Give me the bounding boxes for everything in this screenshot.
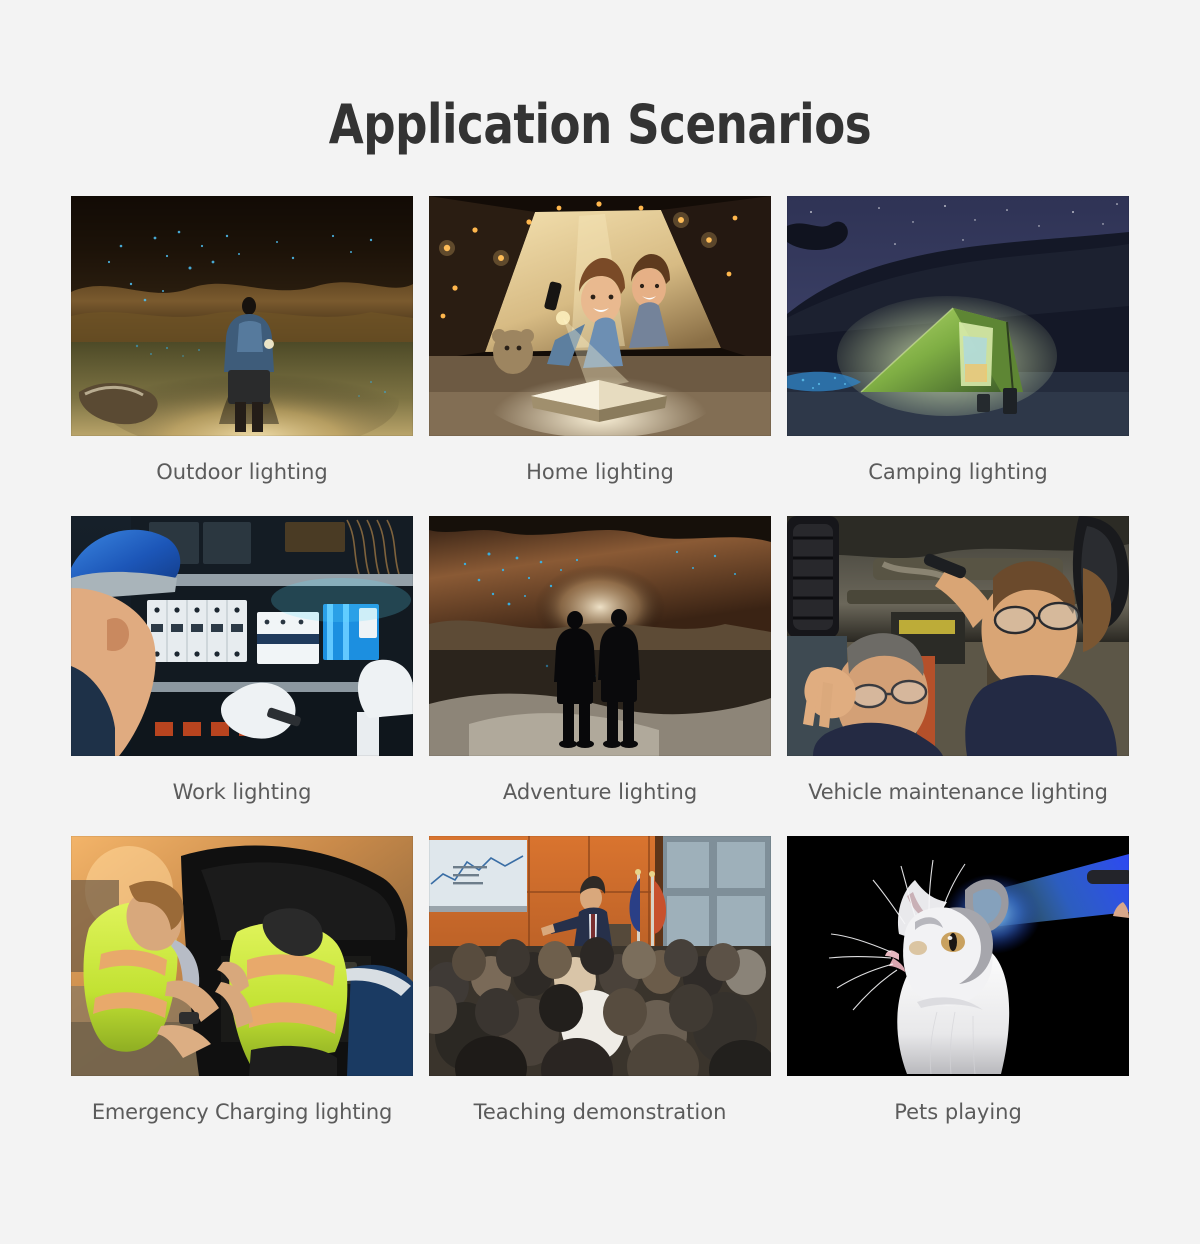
scenario-caption-home-lighting: Home lighting	[429, 436, 771, 516]
scenario-image-camping-lighting[interactable]	[787, 196, 1129, 436]
scenario-caption-vehicle-maintenance-lighting: Vehicle maintenance lighting	[787, 756, 1129, 836]
scenario-image-work-lighting[interactable]	[71, 516, 413, 756]
scenario-image-pets-playing[interactable]	[787, 836, 1129, 1076]
scenario-grid: Outdoor lighting	[71, 158, 1129, 1156]
page-title: Application Scenarios	[42, 0, 1158, 158]
scenario-card-pets-playing[interactable]: Pets playing	[787, 836, 1129, 1156]
scenario-caption-adventure-lighting: Adventure lighting	[429, 756, 771, 836]
scenario-caption-work-lighting: Work lighting	[71, 756, 413, 836]
scenario-card-outdoor-lighting[interactable]: Outdoor lighting	[71, 196, 413, 516]
scenario-card-emergency-charging-lighting[interactable]: Emergency Charging lighting	[71, 836, 413, 1156]
scenario-image-teaching-demonstration[interactable]	[429, 836, 771, 1076]
scenario-image-adventure-lighting[interactable]	[429, 516, 771, 756]
application-scenarios-page: Application Scenarios	[0, 0, 1200, 1244]
scenario-caption-pets-playing: Pets playing	[787, 1076, 1129, 1156]
scenario-card-home-lighting[interactable]: Home lighting	[429, 196, 771, 516]
scenario-card-vehicle-maintenance-lighting[interactable]: Vehicle maintenance lighting	[787, 516, 1129, 836]
scenario-caption-teaching-demonstration: Teaching demonstration	[429, 1076, 771, 1156]
scenario-card-work-lighting[interactable]: Work lighting	[71, 516, 413, 836]
scenario-caption-camping-lighting: Camping lighting	[787, 436, 1129, 516]
scenario-caption-outdoor-lighting: Outdoor lighting	[71, 436, 413, 516]
scenario-image-outdoor-lighting[interactable]	[71, 196, 413, 436]
scenario-image-vehicle-maintenance-lighting[interactable]	[787, 516, 1129, 756]
scenario-card-teaching-demonstration[interactable]: Teaching demonstration	[429, 836, 771, 1156]
scenario-card-camping-lighting[interactable]: Camping lighting	[787, 196, 1129, 516]
scenario-card-adventure-lighting[interactable]: Adventure lighting	[429, 516, 771, 836]
scenario-image-home-lighting[interactable]	[429, 196, 771, 436]
scenario-image-emergency-charging-lighting[interactable]	[71, 836, 413, 1076]
scenario-caption-emergency-charging-lighting: Emergency Charging lighting	[71, 1076, 413, 1156]
